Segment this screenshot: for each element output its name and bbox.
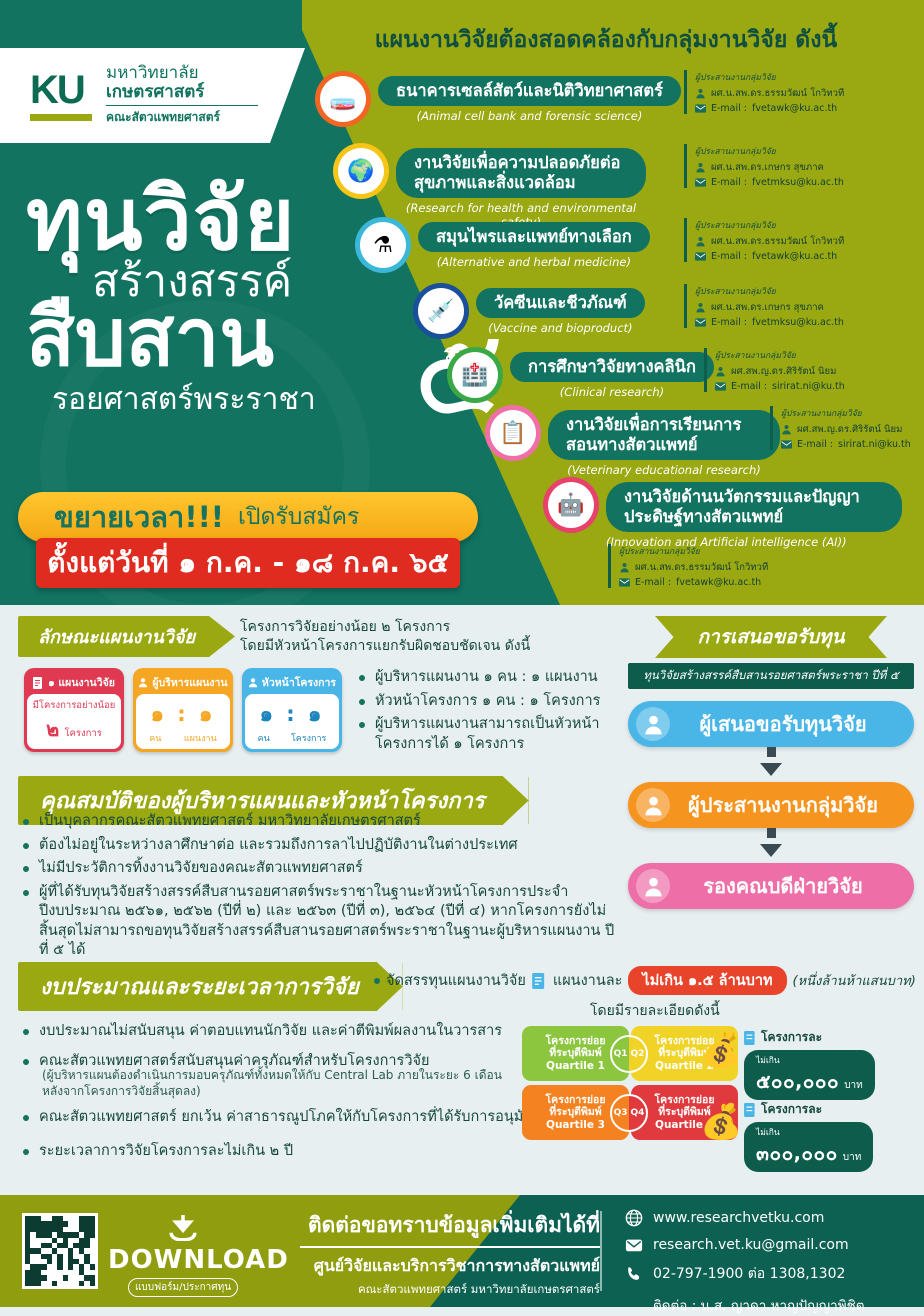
- alloc-pill: ไม่เกิน ๑.๕ ล้านบาท: [628, 966, 786, 995]
- group-title: งานวิจัยเพื่อความปลอดภัยต่อสุขภาพและสิ่ง…: [396, 148, 646, 198]
- footer: DOWNLOAD แบบฟอร์ม/ประกาศทุน ติดต่อขอทราบ…: [0, 1195, 924, 1307]
- q2-label: Q2: [631, 1049, 645, 1059]
- contact-person: ติดต่อ : น.ส. ญาดา หาญปัญญาพิชิต: [653, 1294, 865, 1316]
- stat-label-left: คน: [258, 731, 270, 745]
- bullet-dot: [374, 978, 380, 984]
- email-label: E-mail :: [797, 439, 833, 450]
- globe-leaf-icon: 🌍: [338, 148, 384, 194]
- amount-value: ๓๐๐,๐๐๐: [756, 1143, 838, 1165]
- document-icon: [33, 677, 44, 689]
- budget-ribbon: งบประมาณและระยะเวลาการวิจัย: [18, 962, 403, 1011]
- stat-labels: คน โครงการ: [247, 731, 337, 745]
- stat-ratio: ๑ : ๑: [247, 698, 337, 731]
- person-icon: [715, 366, 726, 377]
- email-value: sirirat.ni@ku.th: [838, 439, 911, 450]
- footer-vertical-divider: [600, 1211, 602, 1291]
- coordinator-label: ผู้ประสานงานกลุ่มวิจัย: [619, 544, 768, 558]
- amount-pill: ไม่เกิน ๕๐๐,๐๐๐ บาท: [744, 1050, 875, 1100]
- email-row: E-mail : sirirat.ni@ku.th: [715, 381, 845, 392]
- stat-sub: มีโครงการอย่างน้อย: [29, 698, 119, 713]
- stat-unit: โครงการ: [64, 728, 101, 739]
- stat-head: ๑ แผนงานวิจัย: [27, 671, 121, 694]
- logo-divider: [106, 105, 258, 106]
- email-label: E-mail :: [711, 317, 747, 328]
- group-title: ธนาคารเซลล์สัตว์และนิติวิทยาศาสตร์: [378, 76, 681, 106]
- project-label: โครงการละ: [761, 1100, 822, 1119]
- email-label: E-mail :: [731, 381, 767, 392]
- stat-head-label: ๑ แผนงานวิจัย: [48, 674, 115, 691]
- plan-stat-boxes: ๑ แผนงานวิจัย มีโครงการอย่างน้อย ๒ โครงก…: [24, 668, 342, 752]
- group-title: วัคซีนและชีวภัณฑ์: [476, 288, 645, 318]
- research-group-item[interactable]: ⚗ สมุนไพรและแพทย์ทางเลือก (Alternative a…: [360, 222, 650, 269]
- research-group-item[interactable]: 🏥 การศึกษาวิจัยทางคลินิก (Clinical resea…: [452, 352, 714, 399]
- amount-block-1: โครงการละ ไม่เกิน ๕๐๐,๐๐๐ บาท: [744, 1028, 920, 1100]
- coordinator-label: ผู้ประสานงานกลุ่มวิจัย: [695, 70, 844, 84]
- mortar-pestle-icon: ⚗: [360, 222, 406, 268]
- coordinator-label: ผู้ประสานงานกลุ่มวิจัย: [695, 218, 844, 232]
- cell-icon: 🧫: [320, 76, 366, 122]
- ku-logo-mark: KU: [30, 71, 92, 121]
- ku-logo-text: มหาวิทยาลัย เกษตรศาสตร์ คณะสัตวแพทยศาสตร…: [106, 64, 258, 127]
- email-icon: [695, 177, 706, 188]
- research-group-item[interactable]: 💉 วัคซีนและชีวภัณฑ์ (Vaccine and bioprod…: [418, 288, 645, 335]
- footer-contact-block: ติดต่อขอทราบข้อมูลเพิ่มเติมได้ที่ ศูนย์ว…: [240, 1209, 600, 1299]
- email-icon: [781, 439, 792, 450]
- stat-ratio: ๑ : ๑: [138, 698, 228, 731]
- vaccine-icon: 💉: [418, 288, 464, 334]
- download-icon: [168, 1215, 198, 1241]
- stat-label-right: แผนงาน: [184, 731, 217, 745]
- group-title: สมุนไพรและแพทย์ทางเลือก: [418, 222, 650, 252]
- email-icon: [695, 251, 706, 262]
- group-contact: ผู้ประสานงานกลุ่มวิจัย ผศ.น.สพ.ดร.ธรรมวั…: [684, 70, 844, 114]
- flow-arrow: [628, 747, 914, 776]
- q3-label: Q3: [614, 1108, 628, 1118]
- stat-head-label: หัวหน้าโครงการ: [262, 674, 336, 691]
- email-value: fvetawk@ku.ac.th: [752, 251, 837, 262]
- amount-cap: ไม่เกิน: [756, 1053, 863, 1067]
- money-bag-icon: 💰: [700, 1102, 742, 1142]
- stat-body: ๑ : ๑ คน แผนงาน: [136, 694, 230, 749]
- list-item: ระยะเวลาการวิจัยโครงการละไม่เกิน ๒ ปี: [22, 1142, 547, 1162]
- alloc-mid: แผนงานละ: [553, 969, 623, 992]
- quartile-th1: โครงการย่อย: [546, 1035, 606, 1048]
- coordinator-name: ผศ.สพ.ญ.ดร.ศิริรัตน์ นิยม: [731, 364, 836, 379]
- coordinator-name: ผศ.น.สพ.ดร.ธรรมวัฒน์ โกวิทวที: [635, 560, 768, 575]
- email-value: fvetawk@ku.ac.th: [752, 103, 837, 114]
- group-title: การศึกษาวิจัยทางคลินิก: [510, 352, 714, 382]
- university-line1: มหาวิทยาลัย: [106, 64, 258, 83]
- budget-note: (ผู้บริหารแผนต้องดำเนินการมอบครุภัณฑ์ทั้…: [42, 1068, 542, 1099]
- email-icon: [715, 381, 726, 392]
- project-label: โครงการละ: [761, 1028, 822, 1047]
- list-item: หัวหน้าโครงการ ๑ คน : ๑ โครงการ: [358, 692, 638, 712]
- list-item: คณะสัตวแพทยศาสตร์ ยกเว้น ค่าสาธารณูปโภคใ…: [22, 1108, 547, 1128]
- budget-detail-label: โดยมีรายละเอียดดังนี้: [590, 1000, 720, 1022]
- stat-big: ๒: [46, 717, 59, 741]
- coordinator-row: ผศ.สพ.ญ.ดร.ศิริรัตน์ นิยม: [781, 422, 911, 437]
- research-group-item[interactable]: 📋 งานวิจัยเพื่อการเรียนการสอนทางสัตวแพทย…: [490, 410, 780, 477]
- email-row: E-mail : fvetawk@ku.ac.th: [619, 577, 768, 588]
- email-value: sirirat.ni@ku.th: [772, 381, 845, 392]
- website-row[interactable]: www.researchvetku.com: [625, 1209, 865, 1227]
- coordinator-row: ผศ.สพ.ญ.ดร.ศิริรัตน์ นิยม: [715, 364, 845, 379]
- extension-banner: ขยายเวลา!!! เปิดรับสมัคร: [18, 492, 478, 542]
- person-icon: [636, 869, 670, 903]
- email-row: E-mail : sirirat.ni@ku.th: [781, 439, 911, 450]
- phone-value: 02-797-1900 ต่อ 1308,1302: [653, 1263, 845, 1285]
- list-item: ต้องไม่อยู่ในระหว่างลาศึกษาต่อ และรวมถึง…: [22, 836, 622, 856]
- email-value: fvetmksu@ku.ac.th: [752, 177, 844, 188]
- coordinator-label: ผู้ประสานงานกลุ่มวิจัย: [715, 348, 845, 362]
- coordinator-row: ผศ.น.สพ.ดร.เกษกร สุขภาค: [695, 300, 844, 315]
- coordinator-row: ผศ.น.สพ.ดร.ธรรมวัฒน์ โกวิทวที: [695, 234, 844, 249]
- person-icon: [636, 788, 670, 822]
- proposal-heading: การเสนอขอรับทุน: [655, 616, 887, 658]
- group-contact: ผู้ประสานงานกลุ่มวิจัย ผศ.น.สพ.ดร.เกษกร …: [684, 144, 844, 188]
- proposal-subheading: ทุนวิจัยสร้างสรรค์สืบสานรอยศาสตร์พระราชา…: [628, 663, 914, 689]
- plan-note: โครงการวิจัยอย่างน้อย ๒ โครงการ โดยมีหัว…: [240, 618, 570, 656]
- coordinator-name: ผศ.น.สพ.ดร.เกษกร สุขภาค: [711, 160, 824, 175]
- person-icon: [695, 162, 706, 173]
- quartile-badge-q1q2: Q1 Q2: [610, 1035, 648, 1073]
- stat-labels: คน แผนงาน: [138, 731, 228, 745]
- q4-label: Q4: [631, 1108, 645, 1118]
- amount-cap: ไม่เกิน: [756, 1125, 861, 1139]
- coordinator-label: ผู้ประสานงานกลุ่มวิจัย: [695, 284, 844, 298]
- stat-box-leader: หัวหน้าโครงการ ๑ : ๑ คน โครงการ: [242, 668, 342, 752]
- group-contact: ผู้ประสานงานกลุ่มวิจัย ผศ.น.สพ.ดร.เกษกร …: [684, 284, 844, 328]
- stat-head: ผู้บริหารแผนงาน: [136, 671, 230, 694]
- alloc-prefix: จัดสรรทุนแผนงานวิจัย: [386, 969, 526, 992]
- coordinator-row: ผศ.น.สพ.ดร.เกษกร สุขภาค: [695, 160, 844, 175]
- budget-note-line1: (ผู้บริหารแผนต้องดำเนินการมอบครุภัณฑ์ทั้…: [42, 1068, 542, 1084]
- stat-head: หัวหน้าโครงการ: [245, 671, 339, 694]
- quartile-th1: โครงการย่อย: [546, 1094, 606, 1107]
- group-title-en: (Animal cell bank and forensic science): [378, 109, 681, 123]
- email-row: E-mail : fvetmksu@ku.ac.th: [695, 177, 844, 188]
- coordinator-name: ผศ.น.สพ.ดร.เกษกร สุขภาค: [711, 300, 824, 315]
- stat-box-plan: ๑ แผนงานวิจัย มีโครงการอย่างน้อย ๒ โครงก…: [24, 668, 124, 752]
- stat-body: มีโครงการอย่างน้อย ๒ โครงการ: [27, 694, 121, 749]
- coordinator-name: ผศ.น.สพ.ดร.ธรรมวัฒน์ โกวิทวที: [711, 86, 844, 101]
- amount-unit: บาท: [843, 1152, 862, 1163]
- money-bag-icon: 💰: [700, 1030, 742, 1070]
- contact-heading: ติดต่อขอทราบข้อมูลเพิ่มเติมได้ที่: [240, 1209, 600, 1242]
- email-value: fvetawk@ku.ac.th: [676, 577, 761, 588]
- person-icon: [695, 236, 706, 247]
- download-block[interactable]: DOWNLOAD แบบฟอร์ม/ประกาศทุน: [108, 1215, 258, 1297]
- date-banner: ตั้งแต่วันที่ ๑ ก.ค. - ๑๘ ก.ค. ๖๕: [36, 538, 460, 588]
- group-title-en: (Alternative and herbal medicine): [418, 255, 650, 269]
- document-icon: [744, 1103, 757, 1117]
- flow-step-label: รองคณบดีฝ่ายวิจัย: [670, 870, 914, 902]
- ku-letters: KU: [30, 71, 92, 109]
- coordinator-label: ผู้ประสานงานกลุ่มวิจัย: [781, 406, 911, 420]
- budget-section: งบประมาณและระยะเวลาการวิจัย: [18, 962, 403, 1011]
- budget-allocation-row: จัดสรรทุนแผนงานวิจัย แผนงานละ ไม่เกิน ๑.…: [374, 966, 916, 995]
- person-icon: [138, 677, 148, 688]
- extend-label: ขยายเวลา!!!: [54, 494, 224, 540]
- flow-step-label: ผู้เสนอขอรับทุนวิจัย: [670, 708, 914, 740]
- stat-box-manager: ผู้บริหารแผนงาน ๑ : ๑ คน แผนงาน: [133, 668, 233, 752]
- list-item: เป็นบุคลากรคณะสัตวแพทยศาสตร์ มหาวิทยาลัย…: [22, 812, 622, 832]
- footer-links: www.researchvetku.com research.vet.ku@gm…: [625, 1209, 865, 1316]
- hero-banner: KU มหาวิทยาลัย เกษตรศาสตร์ คณะสัตวแพทยศา…: [0, 0, 924, 605]
- document-icon: [532, 973, 547, 989]
- website-value: www.researchvetku.com: [653, 1210, 824, 1226]
- quartile-en: Quartile 3: [546, 1119, 605, 1132]
- qr-grid: [25, 1216, 95, 1286]
- quartile-th2: ที่ระบุตีพิมพ์: [549, 1106, 601, 1119]
- groups-heading: แผนงานวิจัยต้องสอดคล้องกับกลุ่มงานวิจัย …: [306, 22, 906, 58]
- coordinator-name: ผศ.น.สพ.ดร.ธรรมวัฒน์ โกวิทวที: [711, 234, 844, 249]
- budget-bullets-2: คณะสัตวแพทยศาสตร์ ยกเว้น ค่าสาธารณูปโภคใ…: [22, 1108, 547, 1165]
- alloc-suffix: (หนึ่งล้านห้าแสนบาท): [793, 970, 916, 991]
- list-item: ผู้บริหารแผนงานสามารถเป็นหัวหน้าโครงการไ…: [358, 715, 638, 754]
- quartile-en: Quartile 1: [546, 1060, 605, 1073]
- amount-header: โครงการละ: [744, 1100, 920, 1119]
- email-icon: [625, 1236, 643, 1254]
- budget-note-line2: หลังจากโครงการวิจัยสิ้นสุดลง): [42, 1084, 542, 1100]
- email-value: fvetmksu@ku.ac.th: [752, 317, 844, 328]
- list-item: ผู้ที่ได้รับทุนวิจัยสร้างสรรค์สืบสานรอยศ…: [22, 883, 622, 961]
- email-icon: [695, 103, 706, 114]
- group-title-en: (Clinical research): [510, 385, 714, 399]
- research-group-item[interactable]: 🧫 ธนาคารเซลล์สัตว์และนิติวิทยาศาสตร์ (An…: [320, 76, 681, 123]
- plan-bullets: ผู้บริหารแผนงาน ๑ คน : ๑ แผนงาน หัวหน้าโ…: [358, 668, 638, 758]
- faculty-name: คณะสัตวแพทยศาสตร์: [106, 108, 258, 127]
- qr-code[interactable]: [22, 1213, 98, 1289]
- list-item: ไม่มีประวัติการทิ้งงานวิจัยของคณะสัตวแพท…: [22, 859, 622, 879]
- research-group-item[interactable]: 🤖 งานวิจัยด้านนวัตกรรมและปัญญาประดิษฐ์ทา…: [548, 482, 904, 549]
- email-icon: [619, 577, 630, 588]
- group-contact: ผู้ประสานงานกลุ่มวิจัย ผศ.สพ.ญ.ดร.ศิริรั…: [770, 406, 911, 450]
- person-icon: [248, 677, 258, 688]
- open-application-label: เปิดรับสมัคร: [238, 499, 359, 535]
- flow-step-applicant[interactable]: ผู้เสนอขอรับทุนวิจัย: [628, 701, 914, 747]
- email-row: E-mail : fvetawk@ku.ac.th: [695, 251, 844, 262]
- email-icon: [695, 317, 706, 328]
- stat-label-left: คน: [149, 731, 161, 745]
- plan-note-line1: โครงการวิจัยอย่างน้อย ๒ โครงการ: [240, 618, 570, 637]
- ku-accent-bar: [30, 114, 92, 121]
- coordinator-label: ผู้ประสานงานกลุ่มวิจัย: [695, 144, 844, 158]
- group-title: งานวิจัยเพื่อการเรียนการสอนทางสัตวแพทย์: [548, 410, 780, 460]
- group-title-en: (Veterinary educational research): [548, 463, 780, 477]
- email-label: E-mail :: [711, 177, 747, 188]
- teaching-icon: 📋: [490, 410, 536, 456]
- plan-section: ลักษณะแผนงานวิจัย: [18, 616, 235, 657]
- phone-row[interactable]: 02-797-1900 ต่อ 1308,1302: [625, 1263, 865, 1285]
- list-item: ผู้บริหารแผนงาน ๑ คน : ๑ แผนงาน: [358, 668, 638, 688]
- stat-value-row: ๒ โครงการ: [29, 713, 119, 745]
- email-label: E-mail :: [635, 577, 671, 588]
- ku-logo-card: KU มหาวิทยาลัย เกษตรศาสตร์ คณะสัตวแพทยศา…: [0, 48, 305, 143]
- quartile-badge-q3q4: Q3 Q4: [610, 1094, 648, 1132]
- email-row: E-mail : fvetmksu@ku.ac.th: [695, 317, 844, 328]
- email-value: research.vet.ku@gmail.com: [653, 1237, 849, 1253]
- amount-pill: ไม่เกิน ๓๐๐,๐๐๐ บาท: [744, 1122, 873, 1172]
- coordinator-row: ผศ.น.สพ.ดร.ธรรมวัฒน์ โกวิทวที: [619, 560, 768, 575]
- person-icon: [636, 707, 670, 741]
- budget-bullets: งบประมาณไม่สนับสนุน ค่าตอบแทนนักวิจัย แล…: [22, 1022, 547, 1073]
- q1-label: Q1: [614, 1049, 628, 1059]
- email-row[interactable]: research.vet.ku@gmail.com: [625, 1236, 865, 1254]
- group-contact: ผู้ประสานงานกลุ่มวิจัย ผศ.น.สพ.ดร.ธรรมวั…: [608, 544, 768, 588]
- flow-step-coordinator[interactable]: ผู้ประสานงานกลุ่มวิจัย: [628, 782, 914, 828]
- group-title-en: (Vaccine and bioproduct): [476, 321, 645, 335]
- stat-body: ๑ : ๑ คน โครงการ: [245, 694, 339, 749]
- amount-block-2: โครงการละ ไม่เกิน ๓๐๐,๐๐๐ บาท: [744, 1100, 920, 1172]
- person-icon: [695, 88, 706, 99]
- coordinator-name: ผศ.สพ.ญ.ดร.ศิริรัตน์ นิยม: [797, 422, 902, 437]
- list-item: งบประมาณไม่สนับสนุน ค่าตอบแทนนักวิจัย แล…: [22, 1022, 547, 1042]
- hospital-icon: 🏥: [452, 352, 498, 398]
- qualification-bullets: เป็นบุคลากรคณะสัตวแพทยศาสตร์ มหาวิทยาลัย…: [22, 812, 622, 965]
- stat-label-right: โครงการ: [291, 731, 326, 745]
- university-line2: เกษตรศาสตร์: [106, 83, 258, 102]
- amount-header: โครงการละ: [744, 1028, 920, 1047]
- download-sublabel: แบบฟอร์ม/ประกาศทุน: [128, 1278, 238, 1297]
- stat-head-label: ผู้บริหารแผนงาน: [152, 674, 227, 691]
- center-name: ศูนย์วิจัยและบริการวิชาการทางสัตวแพทย์: [240, 1254, 600, 1279]
- amount-value-row: ๕๐๐,๐๐๐ บาท: [756, 1067, 863, 1097]
- document-icon: [744, 1031, 757, 1045]
- proposal-section: การเสนอขอรับทุน ทุนวิจัยสร้างสรรค์สืบสาน…: [628, 616, 914, 909]
- group-title: งานวิจัยด้านนวัตกรรมและปัญญาประดิษฐ์ทางส…: [606, 482, 902, 532]
- phone-icon: [625, 1265, 643, 1283]
- flow-step-label: ผู้ประสานงานกลุ่มวิจัย: [670, 789, 914, 821]
- email-label: E-mail :: [711, 251, 747, 262]
- research-group-item[interactable]: 🌍 งานวิจัยเพื่อความปลอดภัยต่อสุขภาพและสิ…: [338, 148, 648, 229]
- person-icon: [619, 562, 630, 573]
- group-contact: ผู้ประสานงานกลุ่มวิจัย ผศ.น.สพ.ดร.ธรรมวั…: [684, 218, 844, 262]
- amount-value-row: ๓๐๐,๐๐๐ บาท: [756, 1139, 861, 1169]
- person-icon: [695, 302, 706, 313]
- globe-icon: [625, 1209, 643, 1227]
- email-label: E-mail :: [711, 103, 747, 114]
- amount-value: ๕๐๐,๐๐๐: [756, 1071, 839, 1093]
- amount-unit: บาท: [844, 1080, 863, 1091]
- group-contact: ผู้ประสานงานกลุ่มวิจัย ผศ.สพ.ญ.ดร.ศิริรั…: [704, 348, 845, 392]
- coordinator-row: ผศ.น.สพ.ดร.ธรรมวัฒน์ โกวิทวที: [695, 86, 844, 101]
- flow-step-dean[interactable]: รองคณบดีฝ่ายวิจัย: [628, 863, 914, 909]
- faculty-line: คณะสัตวแพทยศาสตร์ มหาวิทยาลัยเกษตรศาสตร์: [240, 1281, 600, 1299]
- plan-ribbon: ลักษณะแผนงานวิจัย: [18, 616, 235, 657]
- footer-divider: [300, 1246, 600, 1248]
- person-icon: [781, 424, 792, 435]
- flow-arrow: [628, 828, 914, 857]
- ai-chip-icon: 🤖: [548, 482, 594, 528]
- quartile-th2: ที่ระบุตีพิมพ์: [549, 1047, 601, 1060]
- email-row: E-mail : fvetawk@ku.ac.th: [695, 103, 844, 114]
- plan-note-line2: โดยมีหัวหน้าโครงการแยกรับผิดชอบชัดเจน ดั…: [240, 637, 570, 656]
- download-label: DOWNLOAD: [108, 1245, 258, 1275]
